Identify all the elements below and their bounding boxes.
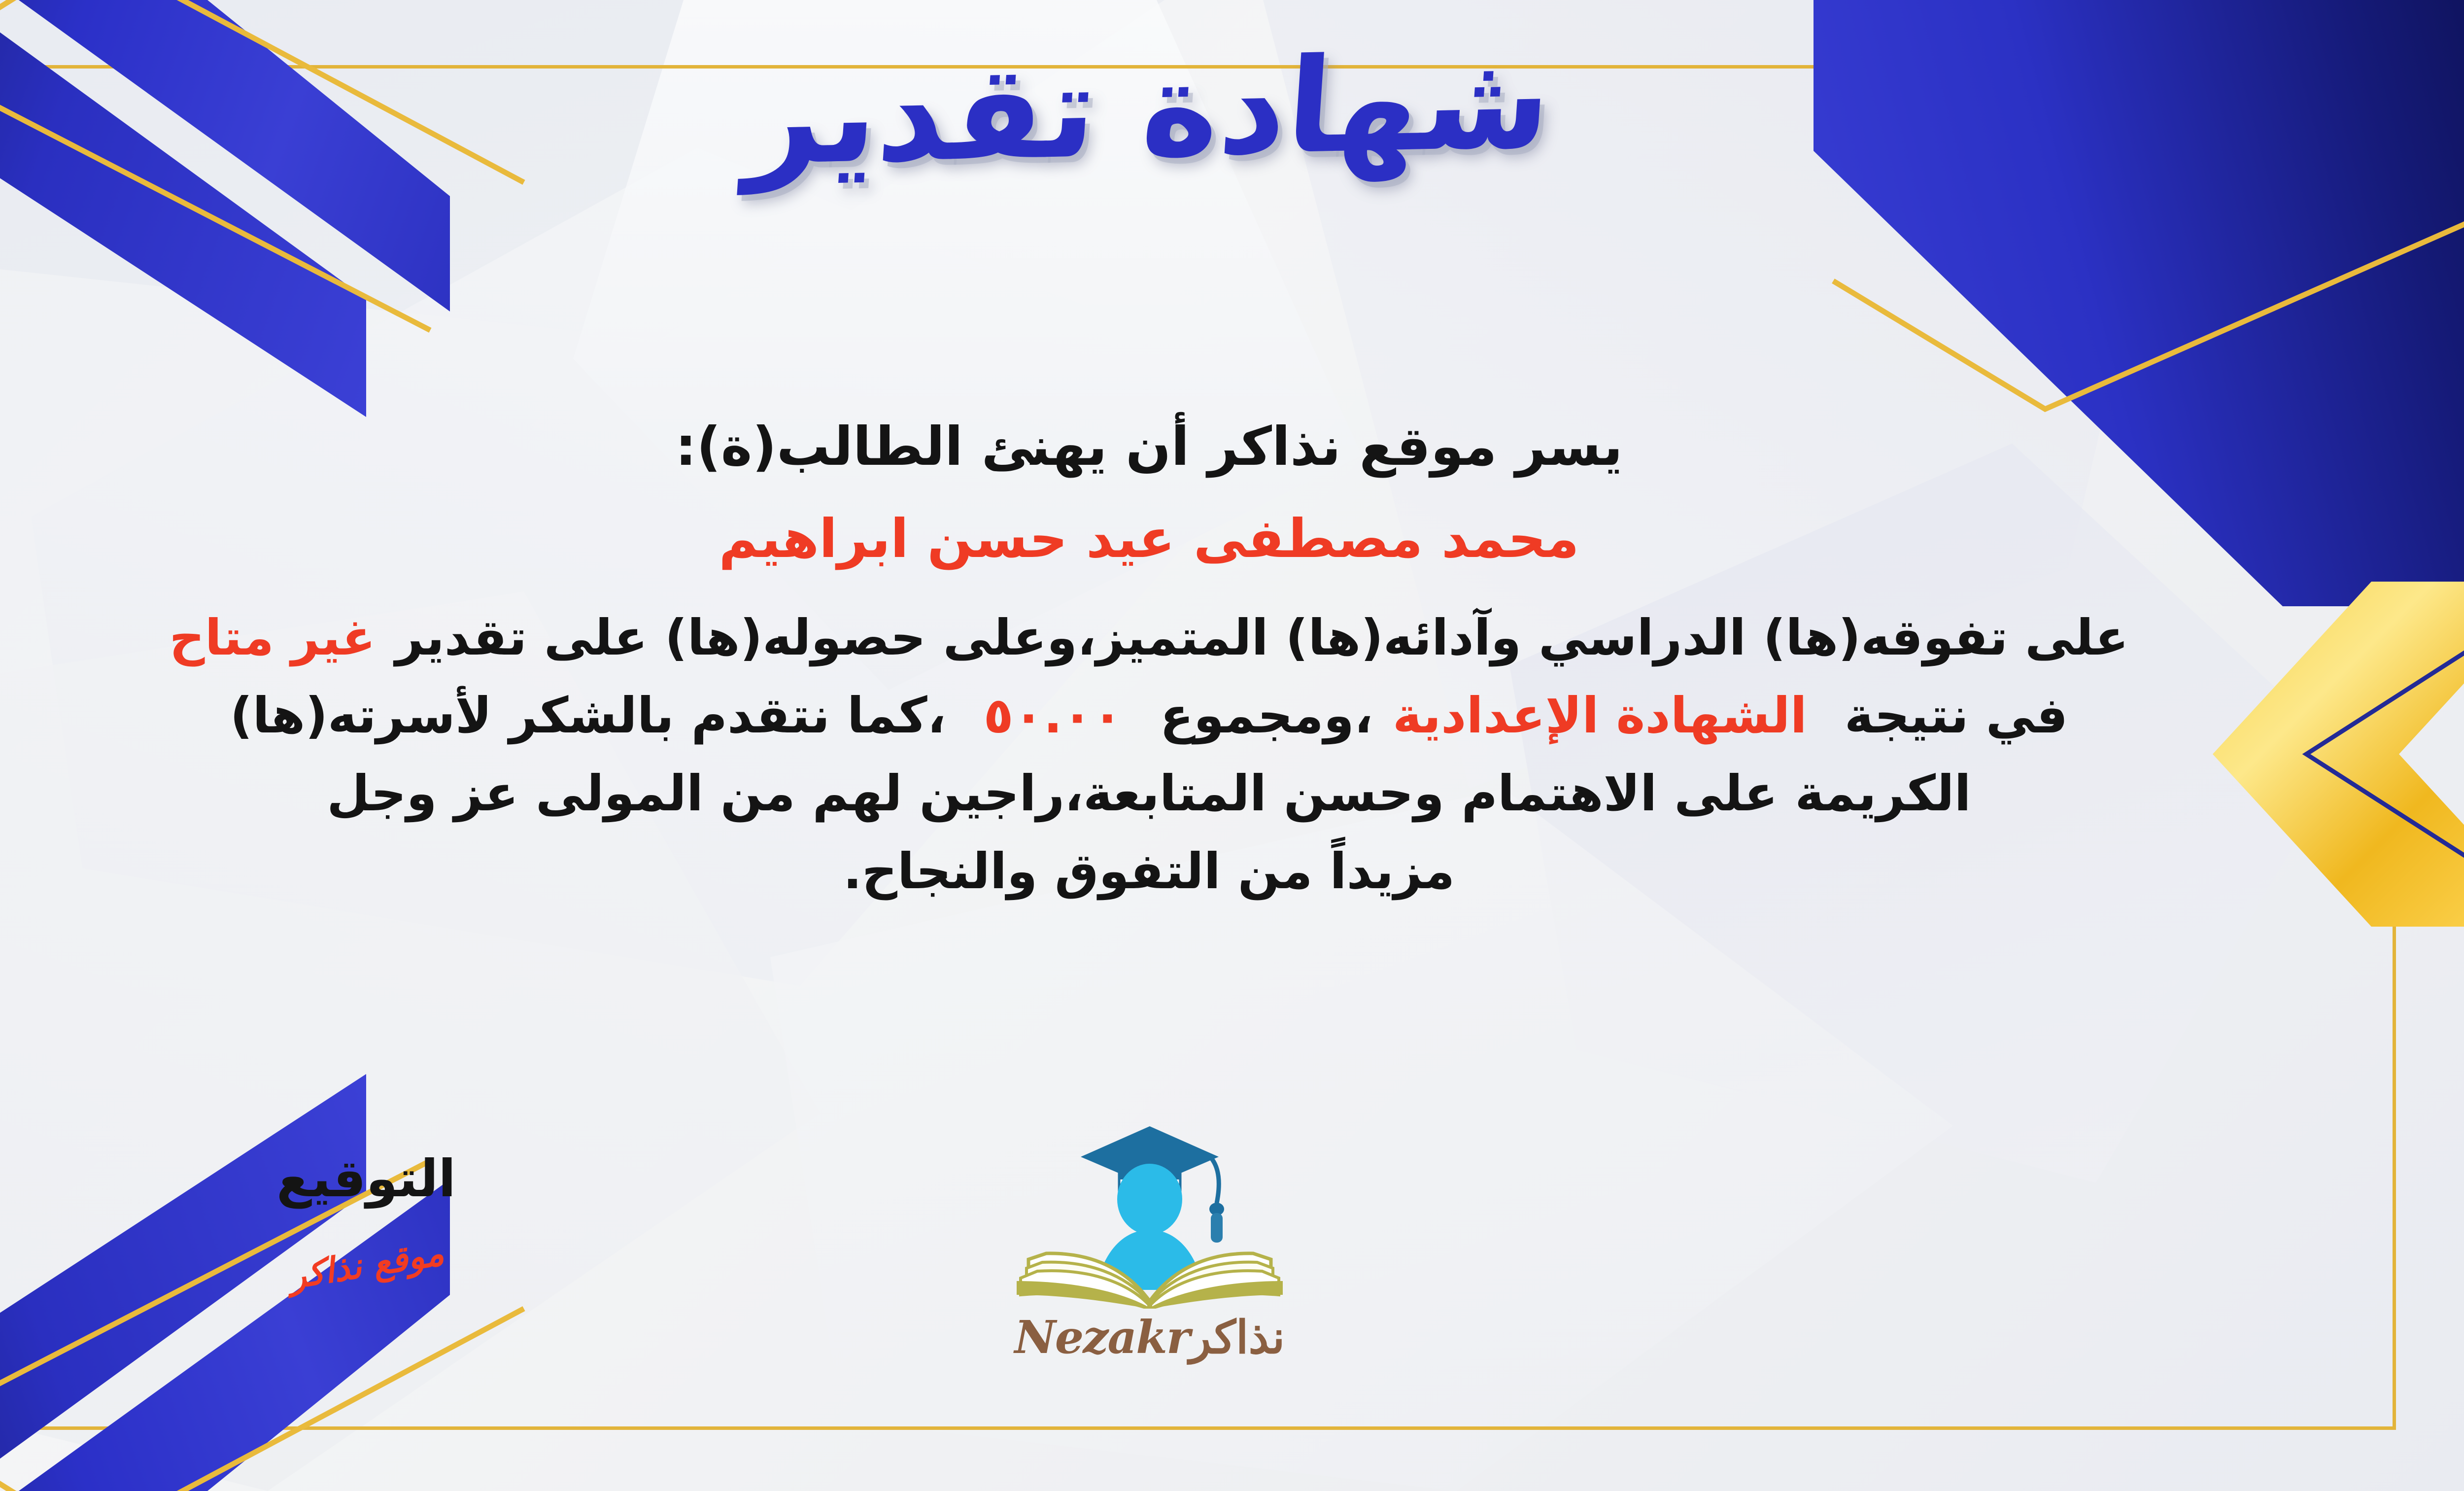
citation-line-3: الكريمة على الاهتمام وحسن المتابعة،راجين… (0, 755, 2390, 832)
citation-line-2: في نتيجةالشهادة الإعدادية،ومجموع٥٠.٠٠،كم… (0, 677, 2390, 755)
citation-paragraph: على تفوقه(ها) الدراسي وآدائه(ها) المتميز… (0, 599, 2390, 910)
citation-line-1-text: على تفوقه(ها) الدراسي وآدائه(ها) المتميز… (395, 609, 2128, 666)
total-score: ٥٠.٠٠ (984, 687, 1123, 744)
signature-mark: موقع نذاكر (286, 1232, 446, 1297)
signature-block: التوقيع موقع نذاكر (208, 1148, 524, 1285)
signature-label: التوقيع (208, 1148, 524, 1209)
logo-name-english: Nezakr (1015, 1311, 1190, 1364)
certificate-title-block: شهادة تقدير (0, 29, 2464, 192)
intro-line: يسر موقع نذاكر أن يهنئ الطالب(ة): (0, 409, 2390, 485)
citation-line-2-prefix: في نتيجة (1845, 687, 2068, 744)
certificate-body: يسر موقع نذاكر أن يهنئ الطالب(ة): محمد م… (0, 409, 2390, 910)
page-title: شهادة تقدير (742, 20, 1556, 200)
grade-value: غير متاح (170, 609, 376, 666)
citation-line-2-suffix: ،كما نتقدم بالشكر لأسرته(ها) (230, 687, 946, 744)
certificate-page: شهادة تقدير يسر موقع نذاكر أن يهنئ الطال… (0, 0, 2464, 1491)
citation-line-2-mid: ،ومجموع (1160, 687, 1373, 744)
certificate-type: الشهادة الإعدادية (1393, 687, 1807, 744)
logo-name-arabic: نذاكر (1189, 1311, 1285, 1364)
logo-wordmark: نذاكرNezakr (977, 1311, 1322, 1364)
citation-line-1: على تفوقه(ها) الدراسي وآدائه(ها) المتميز… (0, 599, 2390, 677)
student-name: محمد مصطفى عيد حسن ابراهيم (0, 501, 2390, 577)
site-logo: نذاكرNezakr (977, 1111, 1322, 1364)
graduate-book-icon (997, 1111, 1302, 1309)
citation-line-4: مزيداً من التفوق والنجاح. (0, 832, 2390, 910)
